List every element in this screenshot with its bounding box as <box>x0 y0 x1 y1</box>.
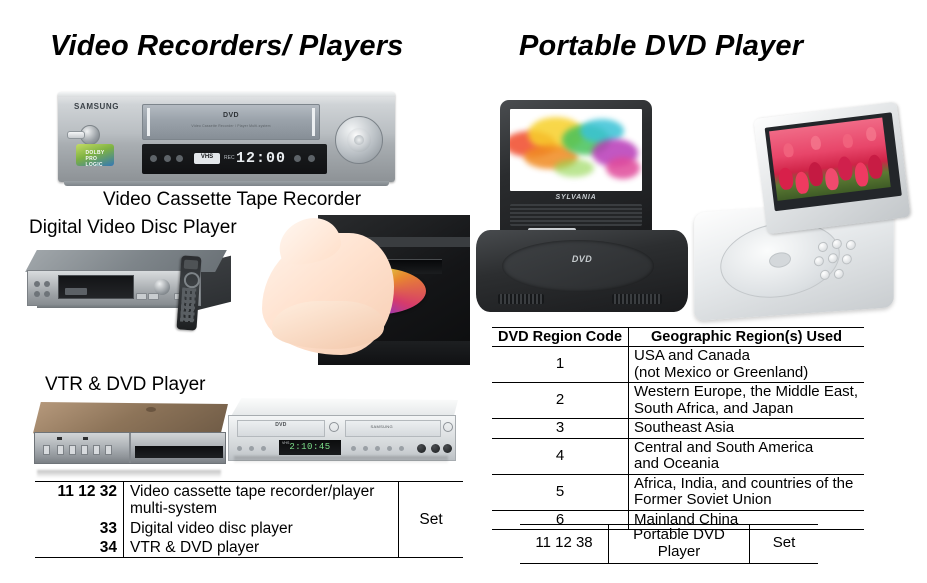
region-code: 5 <box>492 474 629 510</box>
region-code: 3 <box>492 419 629 439</box>
portable-black-speaker-grille <box>510 204 642 226</box>
table-row: 4 Central and South Americaand Oceania <box>492 438 864 474</box>
combo-white-knob-3 <box>443 444 452 453</box>
vcr-cassette-logo: DVD <box>223 112 239 119</box>
row-description: VTR & DVD player <box>124 538 399 558</box>
caption-video-cassette-tape-recorder: Video Cassette Tape Recorder <box>103 189 361 211</box>
table-row: 2 Western Europe, the Middle East,South … <box>492 383 864 419</box>
vcr-cassette-door: DVD Video Cassette Recorder / Player Mul… <box>142 104 320 140</box>
dvd-player-play-button <box>34 291 40 297</box>
portable-silver-screen <box>769 118 891 201</box>
portable-silver-lid <box>753 102 910 235</box>
dvd-player-setup-button <box>148 293 159 300</box>
vcr-eject-button <box>164 155 171 162</box>
combo-white-dvd-button-2 <box>249 446 254 451</box>
combo-bronze-button-5 <box>93 445 100 455</box>
combo-white-vhs-tray: SAMSUNG <box>345 420 441 437</box>
table-row: 11 12 38 Portable DVD Player Set <box>520 525 818 564</box>
vcr-brand-label: SAMSUNG <box>74 102 119 111</box>
vcr-rec-indicator: REC <box>224 155 235 161</box>
combo-white-vhs-button-3 <box>375 446 380 451</box>
region-description: Southeast Asia <box>629 419 865 439</box>
combo-bronze-led-1 <box>57 437 62 440</box>
combo-white-knob-1 <box>417 444 426 453</box>
vcr-vhs-indicator-label: VHS <box>201 154 213 160</box>
portable-silver-button-8 <box>834 269 844 280</box>
caption-vtr-and-dvd-player: VTR & DVD Player <box>45 374 205 396</box>
combo-white-shadow <box>234 456 448 464</box>
combo-bronze-top-panel <box>33 402 228 436</box>
combo-bronze-button-6 <box>105 445 112 455</box>
vcr-top-edge <box>58 92 395 97</box>
portable-silver-button-6 <box>842 254 852 265</box>
portable-silver-button-1 <box>818 242 828 253</box>
combo-bronze-panel-divider <box>129 433 131 463</box>
combo-white-vhs-button-4 <box>387 446 392 451</box>
combo-white-vhs-button-1 <box>351 446 356 451</box>
row-code: 33 <box>35 519 124 538</box>
column-header-region-code: DVD Region Code <box>492 328 629 347</box>
vcr-front-display-panel: VHS REC 12:00 <box>142 144 327 174</box>
product-photo-disc-insertion <box>262 215 470 365</box>
portable-black-brand-label: SYLVANIA <box>500 194 652 201</box>
dvd-player-disc-tray <box>58 275 134 299</box>
combo-bronze-button-3 <box>69 445 76 455</box>
combo-bronze-button-4 <box>81 445 88 455</box>
portable-silver-bezel <box>765 112 902 211</box>
caption-digital-video-disc-player: Digital Video Disc Player <box>29 217 237 239</box>
vcr-tuning-knob <box>80 125 100 145</box>
combo-white-knob-2 <box>431 444 440 453</box>
vcr-jog-dial-center <box>347 128 371 152</box>
row-description: Portable DVD Player <box>609 525 750 564</box>
vcr-jog-dial <box>335 116 383 164</box>
region-description: Western Europe, the Middle East,South Af… <box>629 383 865 419</box>
row-description: Digital video disc player <box>124 519 399 538</box>
vcr-slider-switch <box>67 131 85 139</box>
dvd-player-open-button <box>44 281 50 287</box>
region-description: Central and South Americaand Oceania <box>629 438 865 474</box>
hand-fingers <box>272 301 384 349</box>
table-dvd-region-codes: DVD Region Code Geographic Region(s) Use… <box>492 327 864 530</box>
row-description: Video cassette tape recorder/player mult… <box>124 482 399 519</box>
combo-white-vhs-power-button <box>443 422 453 432</box>
portable-black-vent-right <box>612 294 662 304</box>
combo-bronze-front-panel <box>34 432 226 464</box>
combo-white-dvd-power-button <box>329 422 339 432</box>
vcr-rewind-button <box>176 155 183 162</box>
table-header-row: DVD Region Code Geographic Region(s) Use… <box>492 328 864 347</box>
region-code: 2 <box>492 383 629 419</box>
portable-black-vent-left <box>498 294 544 304</box>
vcr-power-button <box>150 155 157 162</box>
row-unit: Set <box>750 525 819 564</box>
combo-white-vhs-button-5 <box>399 446 404 451</box>
dvd-player-feet <box>37 304 187 308</box>
combo-white-vhs-tray-label: SAMSUNG <box>371 424 393 429</box>
combo-white-display-tag: VHS <box>282 441 289 445</box>
product-photo-portable-dvd-silver <box>694 110 918 320</box>
combo-white-dvd-button-3 <box>261 446 266 451</box>
table-row: 1 USA and Canada(not Mexico or Greenland… <box>492 347 864 383</box>
page-title-video-recorders: Video Recorders/ Players <box>50 30 404 63</box>
column-header-geographic-region: Geographic Region(s) Used <box>629 328 865 347</box>
combo-bronze-button-1 <box>43 445 50 455</box>
table-row: 11 12 32 Video cassette tape recorder/pl… <box>35 482 463 519</box>
product-photo-portable-dvd-black: SYLVANIA DVD <box>476 100 688 322</box>
region-code: 4 <box>492 438 629 474</box>
combo-bronze-shadow <box>37 470 221 478</box>
page-title-portable-dvd: Portable DVD Player <box>519 30 803 63</box>
row-code: 11 12 32 <box>35 482 124 519</box>
remote-power-area <box>184 260 199 270</box>
combo-bronze-led-2 <box>83 437 88 440</box>
combo-white-display: VHS 2:10:45 <box>279 440 341 455</box>
table-portable-dvd-player: 11 12 38 Portable DVD Player Set <box>520 524 818 564</box>
product-photo-dvd-player <box>27 246 236 334</box>
vcr-cassette-sublabel: Video Cassette Recorder / Player Multi-s… <box>191 124 270 128</box>
vcr-feature-badge: DOLBY PRO LOGIC <box>76 144 114 166</box>
vcr-chassis: SAMSUNG DVD Video Cassette Recorder / Pl… <box>58 92 395 182</box>
dvd-player-remote-control <box>176 255 201 330</box>
portable-silver-button-7 <box>820 270 830 281</box>
portable-silver-button-2 <box>832 239 842 250</box>
portable-black-dvd-logo: DVD <box>572 254 592 264</box>
dvd-player-front-panel <box>27 270 201 306</box>
remote-keypad <box>180 288 196 323</box>
vcr-base-plate <box>64 181 389 186</box>
row-unit: Set <box>399 482 464 558</box>
region-description: Africa, India, and countries of theForme… <box>629 474 865 510</box>
combo-white-display-value: 2:10:45 <box>289 442 330 452</box>
portable-silver-button-4 <box>814 256 824 267</box>
table-row: 3 Southeast Asia <box>492 419 864 439</box>
portable-silver-button-5 <box>828 253 838 264</box>
dvd-player-stop-button <box>44 291 50 297</box>
row-code: 34 <box>35 538 124 558</box>
remote-navigation-ring <box>183 272 200 289</box>
portable-silver-control-pad <box>812 236 874 292</box>
product-photo-vcr: SAMSUNG DVD Video Cassette Recorder / Pl… <box>58 92 395 182</box>
portable-black-disc-lid <box>502 240 654 292</box>
vcr-stop-button <box>308 155 315 162</box>
table-row: 5 Africa, India, and countries of theFor… <box>492 474 864 510</box>
vcr-clock-display: 12:00 <box>236 150 286 168</box>
vcr-play-button <box>294 155 301 162</box>
dvd-player-menu-button <box>136 293 147 300</box>
combo-white-dvd-tray-label: DVD <box>275 422 286 428</box>
table-video-recorders: 11 12 32 Video cassette tape recorder/pl… <box>35 481 463 558</box>
combo-white-dvd-tray: DVD <box>237 420 325 437</box>
region-description: USA and Canada(not Mexico or Greenland) <box>629 347 865 383</box>
row-code: 11 12 38 <box>520 525 609 564</box>
portable-black-screen <box>510 109 642 191</box>
product-photo-vtr-dvd-combo-bronze <box>33 402 228 478</box>
combo-white-dvd-button-1 <box>237 446 242 451</box>
combo-white-vhs-button-2 <box>363 446 368 451</box>
region-code: 1 <box>492 347 629 383</box>
vcr-feature-badge-label: DOLBY PRO LOGIC <box>86 150 105 168</box>
combo-bronze-vhs-door <box>135 446 223 458</box>
product-photo-vtr-dvd-combo-white: DVD SAMSUNG VHS 2:10:45 <box>228 398 462 478</box>
combo-bronze-button-2 <box>57 445 64 455</box>
combo-white-front-panel: DVD SAMSUNG VHS 2:10:45 <box>228 415 456 461</box>
vcr-vhs-indicator: VHS <box>194 153 220 164</box>
portable-black-base: DVD <box>476 230 688 312</box>
portable-black-lid: SYLVANIA <box>500 100 652 240</box>
dvd-player-power-button <box>34 281 40 287</box>
portable-silver-button-3 <box>846 240 856 251</box>
